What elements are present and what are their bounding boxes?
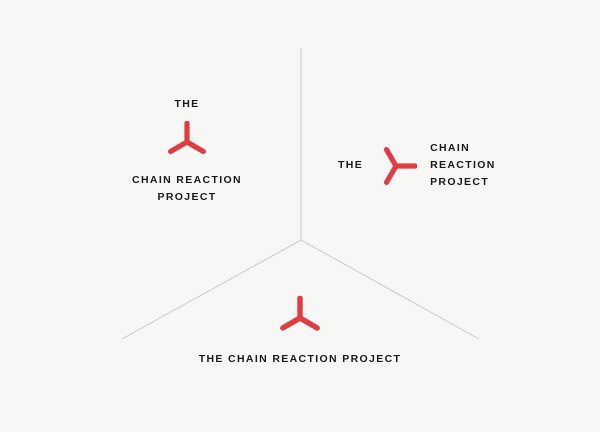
lockup-left-mark-wrap <box>166 121 208 163</box>
lockup-left-name-line-2: PROJECT <box>132 189 242 206</box>
lockup-right-name: CHAIN REACTION PROJECT <box>430 140 496 191</box>
logo-lockup-horizontal-right: THE CHAIN REACTION PROJECT <box>338 140 496 191</box>
lockup-bottom-name: THE CHAIN REACTION PROJECT <box>199 351 402 368</box>
logo-lockup-stacked-left: THE CHAIN REACTION PROJECT <box>122 96 252 206</box>
lockup-bottom-name-line-1: THE CHAIN REACTION PROJECT <box>199 351 402 368</box>
chain-reaction-y-mark <box>375 145 417 187</box>
lockup-right-name-line-1: CHAIN <box>430 140 496 157</box>
logo-presentation-canvas: THE CHAIN REACTION PROJECT THE <box>0 0 600 432</box>
lockup-right-mark-wrap <box>375 145 417 187</box>
chain-reaction-y-mark <box>166 121 208 163</box>
lockup-left-the-word: THE <box>174 96 199 113</box>
logo-lockup-stacked-bottom: THE CHAIN REACTION PROJECT <box>170 296 430 368</box>
lockup-left-name-line-1: CHAIN REACTION <box>132 172 242 189</box>
lockup-right-the-word: THE <box>338 157 363 174</box>
lockup-right-name-line-3: PROJECT <box>430 174 496 191</box>
chain-reaction-y-mark <box>278 296 322 340</box>
lockup-bottom-mark-wrap <box>278 296 322 340</box>
lockup-right-name-line-2: REACTION <box>430 157 496 174</box>
lockup-left-name: CHAIN REACTION PROJECT <box>132 172 242 206</box>
